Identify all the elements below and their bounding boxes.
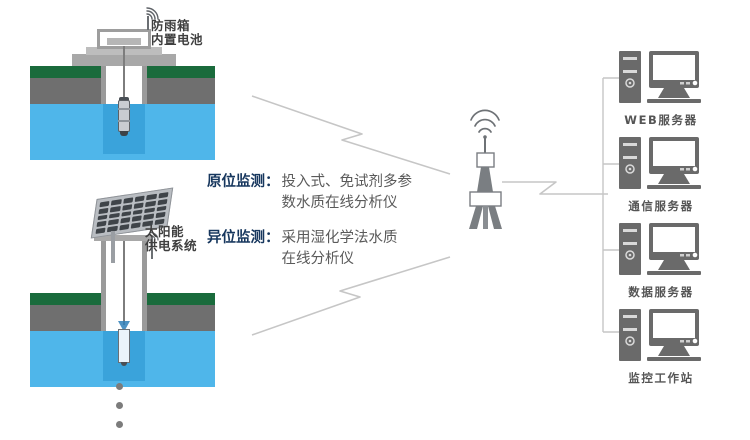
probe-band bbox=[118, 108, 130, 110]
solar-cell bbox=[156, 205, 166, 211]
solar-cell bbox=[131, 222, 141, 228]
wireless-link-upper bbox=[250, 90, 460, 180]
rain-proof-box-label: 防雨箱内置电池 bbox=[151, 19, 203, 47]
solar-panel-pole bbox=[111, 231, 115, 263]
solar-cell bbox=[133, 209, 143, 215]
probe-cable bbox=[123, 46, 125, 98]
node-monitor-workstation[interactable] bbox=[618, 306, 704, 366]
in-situ-well-illustration bbox=[30, 28, 215, 160]
rain-proof-box-battery bbox=[107, 38, 141, 45]
solar-cell bbox=[123, 197, 133, 203]
solar-cell bbox=[146, 194, 156, 200]
solar-cell bbox=[99, 201, 109, 207]
node-comm-server[interactable] bbox=[618, 134, 704, 194]
server-computer-icon bbox=[618, 220, 704, 280]
solar-cell bbox=[132, 216, 142, 222]
solar-system-label-line1: 太阳能 bbox=[145, 224, 184, 239]
solar-cell bbox=[97, 214, 107, 220]
callout-ex-situ-value: 采用湿化学法水质 在线分析仪 bbox=[282, 228, 398, 269]
callout-in-situ: 原位监测： 投入式、免试剂多参 数水质在线分析仪 bbox=[207, 172, 437, 213]
node-data-server-label: 数据服务器 bbox=[613, 284, 709, 300]
server-computer-icon bbox=[618, 134, 704, 194]
tower-icon bbox=[440, 100, 530, 230]
ellipsis-dot bbox=[116, 421, 123, 428]
callout-ex-situ: 异位监测： 采用湿化学法水质 在线分析仪 bbox=[207, 228, 437, 269]
node-web-server-label: WEB服务器 bbox=[613, 112, 709, 128]
wet-chemistry-probe bbox=[118, 329, 130, 363]
solar-cell bbox=[157, 199, 167, 205]
solar-cell bbox=[98, 208, 108, 214]
node-data-server[interactable] bbox=[618, 220, 704, 280]
solar-system-label: 太阳能供电系统 bbox=[145, 225, 197, 253]
multiparameter-probe bbox=[118, 100, 130, 132]
solar-cell bbox=[121, 211, 131, 217]
callout-ex-situ-key: 异位监测： bbox=[207, 228, 280, 249]
probe-tip bbox=[120, 131, 128, 136]
solar-cell bbox=[158, 192, 168, 198]
ellipsis-dot bbox=[116, 383, 123, 390]
solar-cell bbox=[109, 213, 119, 219]
solar-cell bbox=[145, 201, 155, 207]
solar-cell bbox=[96, 221, 106, 227]
solar-cell bbox=[119, 224, 129, 230]
server-computer-icon bbox=[618, 48, 704, 108]
ex-situ-well-illustration bbox=[30, 255, 215, 387]
ellipsis-dot bbox=[116, 402, 123, 409]
diagram-canvas: 防雨箱内置电池 bbox=[0, 0, 750, 440]
solar-cell bbox=[110, 206, 120, 212]
solar-cell bbox=[134, 202, 144, 208]
rain-proof-box-label-line1: 防雨箱 bbox=[151, 18, 190, 33]
solar-cell bbox=[122, 204, 132, 210]
solar-cell bbox=[95, 228, 105, 234]
node-comm-server-label: 通信服务器 bbox=[613, 198, 709, 214]
server-computer-icon bbox=[618, 306, 704, 366]
rain-proof-box-label-line2: 内置电池 bbox=[151, 32, 203, 47]
solar-cell bbox=[155, 212, 165, 218]
node-monitor-workstation-label: 监控工作站 bbox=[613, 370, 709, 386]
solar-cell bbox=[135, 196, 145, 202]
solar-cell bbox=[108, 219, 118, 225]
continuation-ellipsis bbox=[116, 383, 123, 440]
solar-cell bbox=[120, 217, 130, 223]
solar-cell bbox=[144, 207, 154, 213]
node-web-server[interactable] bbox=[618, 48, 704, 108]
solar-cell bbox=[111, 199, 121, 205]
solar-system-label-line2: 供电系统 bbox=[145, 238, 197, 253]
callout-in-situ-value: 投入式、免试剂多参 数水质在线分析仪 bbox=[282, 172, 413, 213]
callout-in-situ-key: 原位监测： bbox=[207, 172, 280, 193]
communication-tower bbox=[440, 100, 530, 230]
solar-cell bbox=[143, 214, 153, 220]
probe-band bbox=[118, 120, 130, 122]
